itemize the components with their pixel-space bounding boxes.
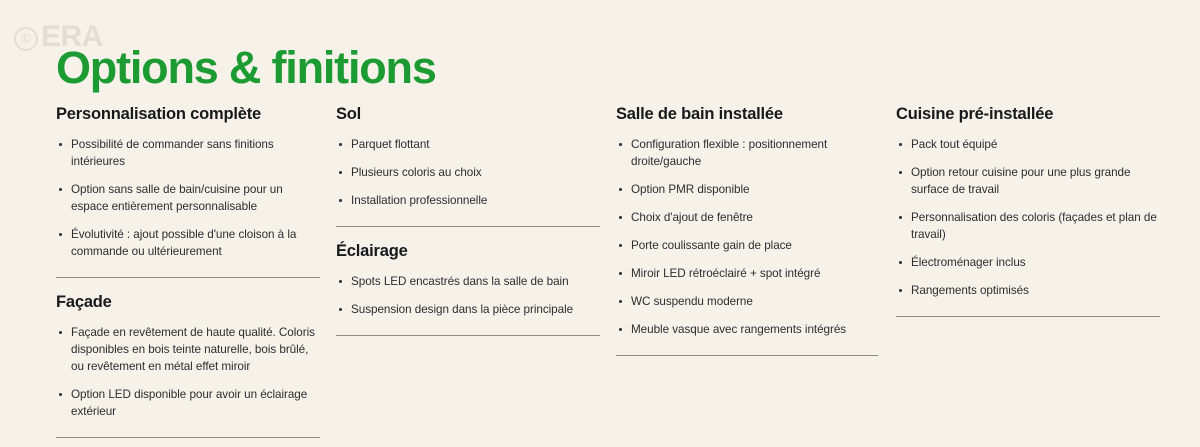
list-item: Choix d'ajout de fenêtre bbox=[616, 209, 878, 226]
section-sol: SolParquet flottantPlusieurs coloris au … bbox=[336, 105, 600, 209]
list-item: Miroir LED rétroéclairé + spot intégré bbox=[616, 265, 878, 282]
list-item-label: Miroir LED rétroéclairé + spot intégré bbox=[631, 267, 820, 280]
bullet-dot-icon bbox=[899, 289, 902, 292]
bullet-dot-icon bbox=[899, 261, 902, 264]
bullet-dot-icon bbox=[619, 328, 622, 331]
section-eclairage: ÉclairageSpots LED encastrés dans la sal… bbox=[336, 242, 600, 318]
list-item-label: Configuration flexible : positionnement … bbox=[631, 138, 827, 168]
section-divider bbox=[616, 355, 878, 356]
bullet-dot-icon bbox=[59, 233, 62, 236]
list-item-label: Choix d'ajout de fenêtre bbox=[631, 211, 753, 224]
content-columns: Personnalisation complètePossibilité de … bbox=[0, 105, 1200, 447]
bullet-dot-icon bbox=[619, 188, 622, 191]
list-item: Possibilité de commander sans finitions … bbox=[56, 136, 320, 170]
column-4: Cuisine pré-installéePack tout équipéOpt… bbox=[896, 105, 1160, 317]
list-item: Option PMR disponible bbox=[616, 181, 878, 198]
list-item: Personnalisation des coloris (façades et… bbox=[896, 209, 1160, 243]
list-item-label: Pack tout équipé bbox=[911, 138, 997, 151]
column-2: SolParquet flottantPlusieurs coloris au … bbox=[336, 105, 600, 336]
column-3: Salle de bain installéeConfiguration fle… bbox=[616, 105, 878, 356]
section-divider bbox=[336, 226, 600, 227]
column-1: Personnalisation complètePossibilité de … bbox=[56, 105, 320, 438]
bullet-dot-icon bbox=[619, 143, 622, 146]
bullet-dot-icon bbox=[339, 143, 342, 146]
bullet-dot-icon bbox=[619, 216, 622, 219]
section-heading: Personnalisation complète bbox=[56, 105, 320, 125]
list-item-label: Installation professionnelle bbox=[351, 194, 487, 207]
list-item: Électroménager inclus bbox=[896, 254, 1160, 271]
list-item: Meuble vasque avec rangements intégrés bbox=[616, 321, 878, 338]
section-cuisine-pre-installee: Cuisine pré-installéePack tout équipéOpt… bbox=[896, 105, 1160, 299]
copyright-icon: © bbox=[14, 27, 38, 51]
list-item-label: Spots LED encastrés dans la salle de bai… bbox=[351, 275, 569, 288]
list-item: Configuration flexible : positionnement … bbox=[616, 136, 878, 170]
bullet-dot-icon bbox=[59, 331, 62, 334]
list-item-label: Parquet flottant bbox=[351, 138, 429, 151]
list-item: Pack tout équipé bbox=[896, 136, 1160, 153]
bullet-dot-icon bbox=[339, 280, 342, 283]
bullet-dot-icon bbox=[899, 171, 902, 174]
feature-list: Possibilité de commander sans finitions … bbox=[56, 136, 320, 260]
feature-list: Spots LED encastrés dans la salle de bai… bbox=[336, 273, 600, 318]
section-divider bbox=[56, 437, 320, 438]
list-item: Porte coulissante gain de place bbox=[616, 237, 878, 254]
section-heading: Façade bbox=[56, 293, 320, 313]
list-item-label: Personnalisation des coloris (façades et… bbox=[911, 211, 1157, 241]
list-item: Façade en revêtement de haute qualité. C… bbox=[56, 324, 320, 375]
section-facade: FaçadeFaçade en revêtement de haute qual… bbox=[56, 293, 320, 420]
list-item-label: WC suspendu moderne bbox=[631, 295, 753, 308]
section-heading: Salle de bain installée bbox=[616, 105, 878, 125]
list-item-label: Option LED disponible pour avoir un écla… bbox=[71, 388, 307, 418]
bullet-dot-icon bbox=[899, 143, 902, 146]
bullet-dot-icon bbox=[339, 171, 342, 174]
feature-list: Configuration flexible : positionnement … bbox=[616, 136, 878, 338]
page-title: Options & finitions bbox=[56, 44, 436, 91]
list-item: Parquet flottant bbox=[336, 136, 600, 153]
feature-list: Pack tout équipéOption retour cuisine po… bbox=[896, 136, 1160, 299]
list-item-label: Suspension design dans la pièce principa… bbox=[351, 303, 573, 316]
section-personnalisation-complete: Personnalisation complètePossibilité de … bbox=[56, 105, 320, 260]
list-item: Rangements optimisés bbox=[896, 282, 1160, 299]
feature-list: Parquet flottantPlusieurs coloris au cho… bbox=[336, 136, 600, 209]
bullet-dot-icon bbox=[619, 272, 622, 275]
list-item-label: Meuble vasque avec rangements intégrés bbox=[631, 323, 846, 336]
section-divider bbox=[56, 277, 320, 278]
list-item-label: Évolutivité : ajout possible d'une clois… bbox=[71, 228, 296, 258]
bullet-dot-icon bbox=[339, 308, 342, 311]
section-heading: Sol bbox=[336, 105, 600, 125]
bullet-dot-icon bbox=[59, 393, 62, 396]
list-item-label: Option sans salle de bain/cuisine pour u… bbox=[71, 183, 283, 213]
bullet-dot-icon bbox=[59, 188, 62, 191]
section-heading: Éclairage bbox=[336, 242, 600, 262]
list-item-label: Électroménager inclus bbox=[911, 256, 1026, 269]
list-item: Option retour cuisine pour une plus gran… bbox=[896, 164, 1160, 198]
list-item-label: Option retour cuisine pour une plus gran… bbox=[911, 166, 1130, 196]
bullet-dot-icon bbox=[59, 143, 62, 146]
list-item: Évolutivité : ajout possible d'une clois… bbox=[56, 226, 320, 260]
list-item: Suspension design dans la pièce principa… bbox=[336, 301, 600, 318]
section-divider bbox=[336, 335, 600, 336]
list-item-label: Rangements optimisés bbox=[911, 284, 1029, 297]
list-item-label: Possibilité de commander sans finitions … bbox=[71, 138, 274, 168]
section-salle-de-bain-installee: Salle de bain installéeConfiguration fle… bbox=[616, 105, 878, 338]
list-item: Spots LED encastrés dans la salle de bai… bbox=[336, 273, 600, 290]
list-item-label: Option PMR disponible bbox=[631, 183, 750, 196]
list-item: Installation professionnelle bbox=[336, 192, 600, 209]
list-item: Option sans salle de bain/cuisine pour u… bbox=[56, 181, 320, 215]
feature-list: Façade en revêtement de haute qualité. C… bbox=[56, 324, 320, 420]
options-finitions-page: ©ERA Options & finitions Personnalisatio… bbox=[0, 0, 1200, 447]
bullet-dot-icon bbox=[619, 300, 622, 303]
bullet-dot-icon bbox=[899, 216, 902, 219]
list-item-label: Façade en revêtement de haute qualité. C… bbox=[71, 326, 315, 373]
bullet-dot-icon bbox=[339, 199, 342, 202]
list-item: Option LED disponible pour avoir un écla… bbox=[56, 386, 320, 420]
list-item: WC suspendu moderne bbox=[616, 293, 878, 310]
bullet-dot-icon bbox=[619, 244, 622, 247]
section-heading: Cuisine pré-installée bbox=[896, 105, 1160, 125]
list-item-label: Porte coulissante gain de place bbox=[631, 239, 792, 252]
section-divider bbox=[896, 316, 1160, 317]
list-item: Plusieurs coloris au choix bbox=[336, 164, 600, 181]
list-item-label: Plusieurs coloris au choix bbox=[351, 166, 482, 179]
